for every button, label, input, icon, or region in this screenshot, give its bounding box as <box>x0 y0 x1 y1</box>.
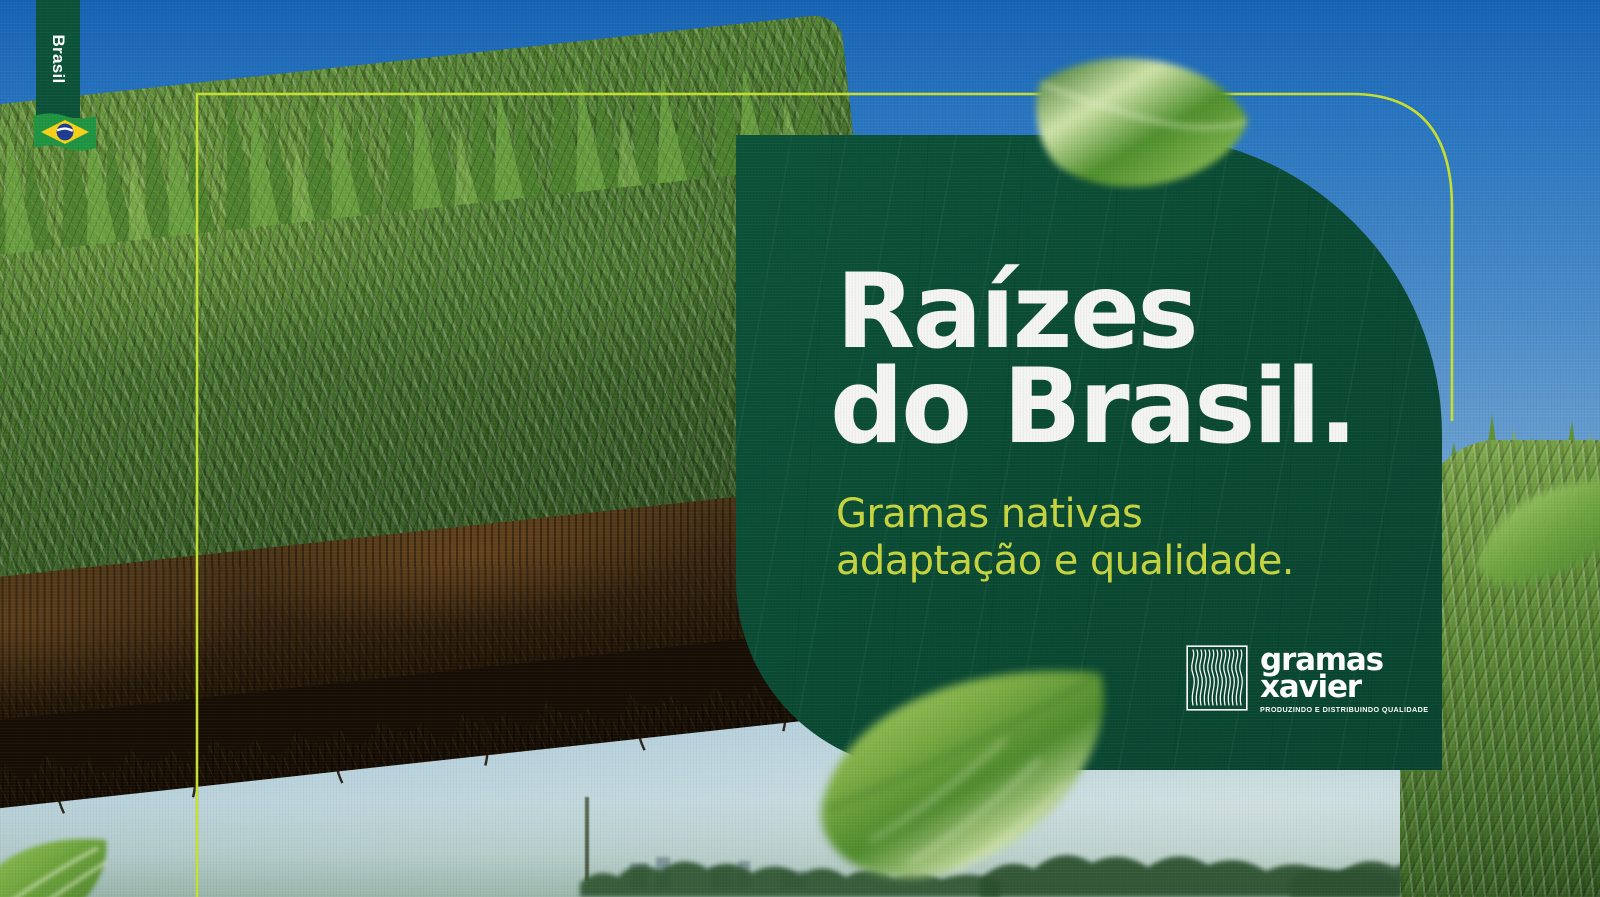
page-title: Raízes do Brasil. <box>836 265 1402 455</box>
wavy-lines-square-icon <box>1186 645 1248 711</box>
logo-name-line-2: xavier <box>1260 674 1428 701</box>
brand-logo[interactable]: gramas xavier PRODUZINDO E DISTRIBUINDO … <box>1186 645 1396 723</box>
subtitle: Gramas nativas adaptação e qualidade. <box>836 491 1402 585</box>
promo-banner: Raízes do Brasil. Gramas nativas adaptaç… <box>0 0 1600 897</box>
headline-line-2: do Brasil. <box>830 360 1402 455</box>
subtitle-line-2: adaptação e qualidade. <box>836 538 1294 584</box>
panel-content: Raízes do Brasil. Gramas nativas adaptaç… <box>836 265 1402 585</box>
logo-wordmark: gramas xavier PRODUZINDO E DISTRIBUINDO … <box>1260 645 1428 714</box>
treeline-left <box>580 827 1000 897</box>
brazil-flag-icon <box>32 110 98 156</box>
logo-tagline: PRODUZINDO E DISTRIBUINDO QUALIDADE <box>1260 705 1428 714</box>
subtitle-line-1: Gramas nativas <box>836 491 1142 537</box>
ribbon-label: Brasil <box>48 34 68 83</box>
brasil-ribbon: Brasil <box>36 0 80 118</box>
